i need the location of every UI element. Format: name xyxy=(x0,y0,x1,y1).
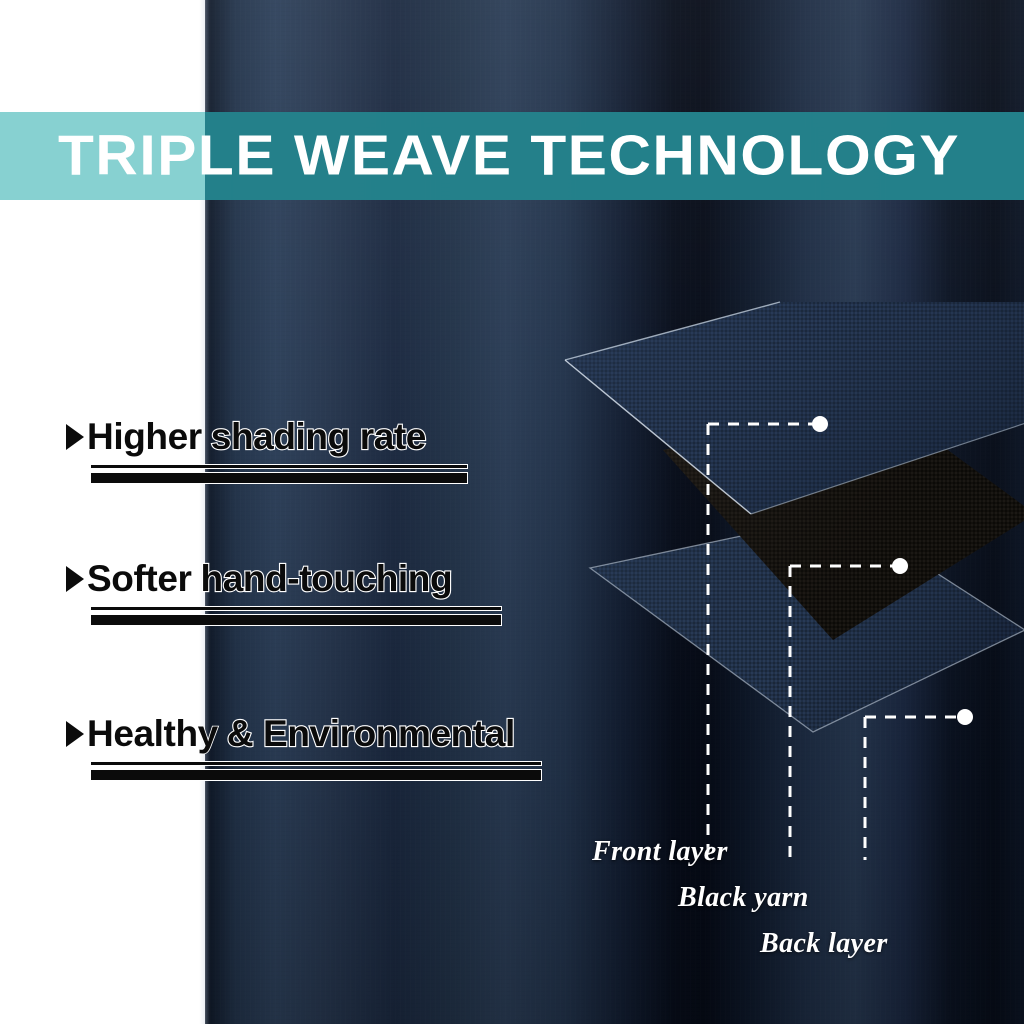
feature-item-softer-hand-touching: Softer hand-touching xyxy=(66,560,486,626)
triangle-right-icon xyxy=(66,566,84,592)
triangle-right-icon xyxy=(66,721,84,747)
feature-item-higher-shading-rate: Higher shading rate xyxy=(66,418,466,484)
diagram-label-front-layer: Front layer xyxy=(592,836,728,868)
underline-bar-thin xyxy=(90,606,502,611)
feature-headline: Softer hand-touching xyxy=(66,560,486,597)
triple-layer-diagram xyxy=(555,300,1024,860)
feature-underline-bars xyxy=(90,761,542,781)
callout-dot-black-yarn xyxy=(892,558,908,574)
feature-strong-word: Higher xyxy=(87,418,202,455)
feature-light-word: shading rate xyxy=(211,418,426,455)
page-title: TRIPLE WEAVE TECHNOLOGY xyxy=(58,128,960,185)
feature-headline: Higher shading rate xyxy=(66,418,466,455)
callout-dot-front-layer xyxy=(812,416,828,432)
underline-bar-thin xyxy=(90,464,468,469)
underline-bar-thin xyxy=(90,761,542,766)
diagram-label-black-yarn: Black yarn xyxy=(678,882,809,914)
feature-underline-bars xyxy=(90,606,502,626)
underline-bar-thick xyxy=(90,472,468,484)
feature-headline: Healthy & Environmental xyxy=(66,715,536,752)
headline-banner: TRIPLE WEAVE TECHNOLOGY xyxy=(0,112,1024,200)
underline-bar-thick xyxy=(90,769,542,781)
feature-strong-word: Softer xyxy=(87,560,192,597)
diagram-label-back-layer: Back layer xyxy=(760,928,888,960)
feature-light-word: & Environmental xyxy=(227,715,515,752)
leader-line-back-layer xyxy=(865,717,965,860)
feature-underline-bars xyxy=(90,464,468,484)
feature-strong-word: Healthy xyxy=(87,715,218,752)
feature-light-word: hand-touching xyxy=(201,560,453,597)
callout-dot-back-layer xyxy=(957,709,973,725)
triangle-right-icon xyxy=(66,424,84,450)
product-feature-image: TRIPLE WEAVE TECHNOLOGY Higher shading r… xyxy=(0,0,1024,1024)
underline-bar-thick xyxy=(90,614,502,626)
feature-item-healthy-environmental: Healthy & Environmental xyxy=(66,715,536,781)
